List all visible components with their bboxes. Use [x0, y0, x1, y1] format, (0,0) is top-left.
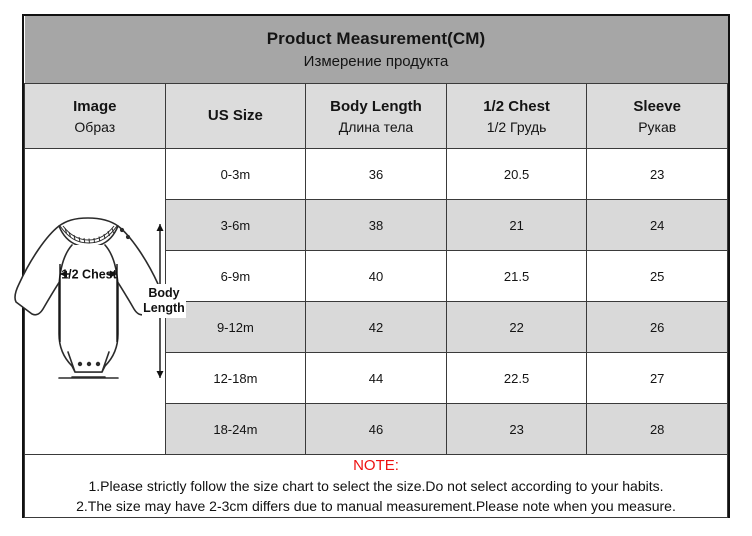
- cell-body-length: 38: [306, 200, 447, 251]
- column-header-us-size-en: US Size: [166, 84, 306, 148]
- crotch-snap-icon: [78, 361, 100, 365]
- column-header-sleeve: Sleeve Рукав: [587, 84, 728, 149]
- body-length-label-line1: Body: [148, 286, 179, 300]
- size-chart-container: Product Measurement(CM) Измерение продук…: [22, 14, 730, 518]
- garment-diagram-cell: 1/2 Chest Body Length: [25, 149, 166, 455]
- column-header-image-ru: Образ: [25, 117, 165, 137]
- cell-half-chest: 23: [446, 404, 587, 455]
- cell-body-length: 40: [306, 251, 447, 302]
- cell-half-chest: 21.5: [446, 251, 587, 302]
- cell-half-chest: 22.5: [446, 353, 587, 404]
- column-header-sleeve-ru: Рукав: [587, 117, 727, 137]
- column-header-us-size: US Size: [165, 84, 306, 149]
- column-header-body-length-ru: Длина тела: [306, 117, 446, 137]
- chart-subtitle: Измерение продукта: [25, 51, 728, 73]
- bodysuit-illustration-icon: 1/2 Chest Body Length: [2, 202, 188, 402]
- half-chest-label: 1/2 Chest: [61, 267, 117, 281]
- cell-half-chest: 22: [446, 302, 587, 353]
- column-header-body-length: Body Length Длина тела: [306, 84, 447, 149]
- column-header-image-en: Image: [25, 96, 165, 117]
- cell-us-size: 18-24m: [165, 404, 306, 455]
- cell-sleeve: 28: [587, 404, 728, 455]
- cell-sleeve: 27: [587, 353, 728, 404]
- body-length-label-line2: Length: [143, 301, 185, 315]
- chart-title: Product Measurement(CM): [25, 27, 728, 51]
- column-header-body-length-en: Body Length: [306, 96, 446, 117]
- cell-us-size: 0-3m: [165, 149, 306, 200]
- cell-half-chest: 20.5: [446, 149, 587, 200]
- note-cell: NOTE: 1.Please strictly follow the size …: [25, 455, 728, 518]
- cell-body-length: 36: [306, 149, 447, 200]
- note-line-1: 1.Please strictly follow the size chart …: [25, 476, 727, 496]
- size-chart-table: Product Measurement(CM) Измерение продук…: [24, 16, 728, 518]
- note-row: NOTE: 1.Please strictly follow the size …: [25, 455, 728, 518]
- cell-half-chest: 21: [446, 200, 587, 251]
- cell-body-length: 42: [306, 302, 447, 353]
- note-heading: NOTE:: [25, 456, 727, 476]
- cell-sleeve: 24: [587, 200, 728, 251]
- cell-sleeve: 23: [587, 149, 728, 200]
- cell-sleeve: 26: [587, 302, 728, 353]
- note-line-2: 2.The size may have 2-3cm differs due to…: [25, 496, 727, 516]
- column-header-half-chest-en: 1/2 Chest: [447, 96, 587, 117]
- arrow-head-down-icon: [156, 371, 163, 378]
- column-header-half-chest: 1/2 Chest 1/2 Грудь: [446, 84, 587, 149]
- arrow-head-up-icon: [156, 224, 163, 231]
- chart-title-cell: Product Measurement(CM) Измерение продук…: [25, 16, 728, 84]
- cell-body-length: 44: [306, 353, 447, 404]
- column-header-image: Image Образ: [25, 84, 166, 149]
- garment-diagram: 1/2 Chest Body Length: [25, 152, 165, 452]
- column-header-sleeve-en: Sleeve: [587, 96, 727, 117]
- table-row: 1/2 Chest Body Length 0-3m 36 20.5: [25, 149, 728, 200]
- cell-body-length: 46: [306, 404, 447, 455]
- column-header-half-chest-ru: 1/2 Грудь: [447, 117, 587, 137]
- header-row: Image Образ US Size Body Length Длина те…: [25, 84, 728, 149]
- cell-sleeve: 25: [587, 251, 728, 302]
- title-row: Product Measurement(CM) Измерение продук…: [25, 16, 728, 84]
